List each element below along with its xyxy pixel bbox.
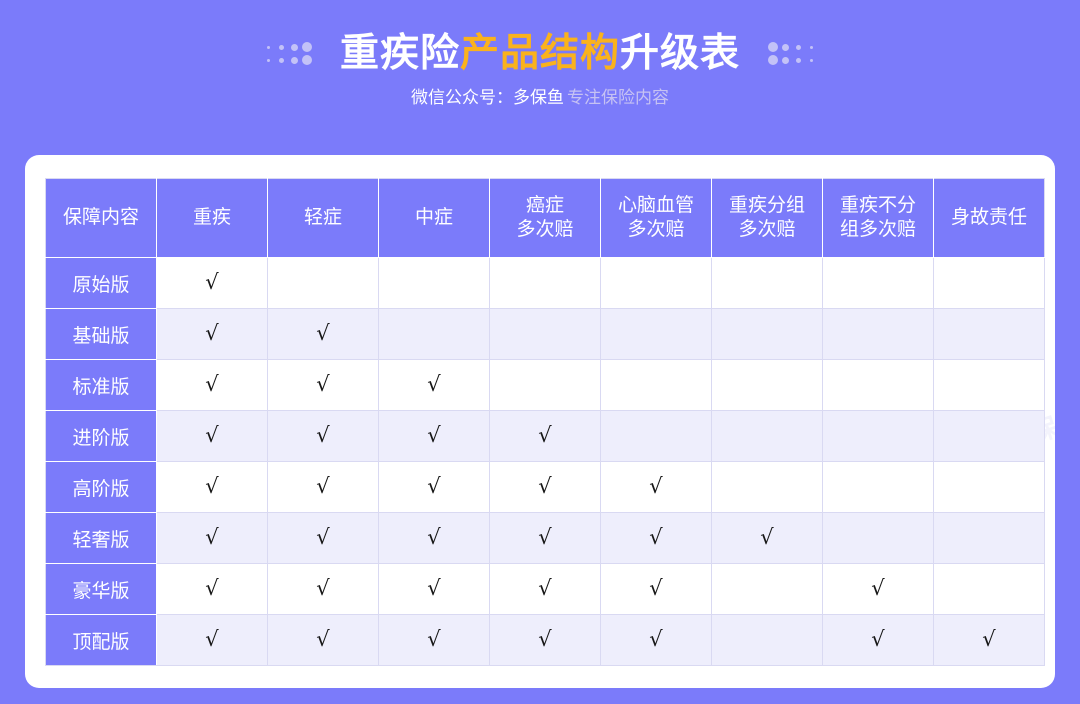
cell-empty [712, 411, 823, 462]
dot-grid-descending-icon [766, 41, 818, 67]
cell-check: √ [379, 615, 490, 666]
check-icon: √ [205, 476, 218, 497]
table-header: 保障内容 重疾轻症中症癌症多次赔心脑血管多次赔重疾分组多次赔重疾不分组多次赔身故… [46, 179, 1045, 258]
title-row: 重疾险产品结构升级表 [0, 34, 1080, 73]
check-icon: √ [538, 527, 551, 548]
cell-empty [823, 462, 934, 513]
check-icon: √ [649, 476, 662, 497]
column-header-7: 重疾不分组多次赔 [823, 179, 934, 258]
coverage-matrix-table: 保障内容 重疾轻症中症癌症多次赔心脑血管多次赔重疾分组多次赔重疾不分组多次赔身故… [45, 178, 1045, 666]
cell-check: √ [379, 411, 490, 462]
cell-empty [823, 411, 934, 462]
table-row: 基础版√√ [46, 309, 1045, 360]
column-header-6: 重疾分组多次赔 [712, 179, 823, 258]
check-icon: √ [427, 629, 440, 650]
check-icon: √ [316, 476, 329, 497]
table-row: 顶配版√√√√√√√ [46, 615, 1045, 666]
check-icon: √ [316, 425, 329, 446]
check-icon: √ [205, 374, 218, 395]
cell-empty [490, 360, 601, 411]
cell-check: √ [601, 564, 712, 615]
column-header-3: 中症 [379, 179, 490, 258]
table-row: 标准版√√√ [46, 360, 1045, 411]
cell-empty [934, 513, 1045, 564]
cell-check: √ [268, 513, 379, 564]
check-icon: √ [316, 527, 329, 548]
cell-check: √ [601, 615, 712, 666]
check-icon: √ [427, 578, 440, 599]
cell-empty [712, 258, 823, 309]
cell-check: √ [601, 462, 712, 513]
check-icon: √ [427, 527, 440, 548]
check-icon: √ [205, 578, 218, 599]
cell-check: √ [268, 411, 379, 462]
column-header-4: 癌症多次赔 [490, 179, 601, 258]
check-icon: √ [871, 629, 884, 650]
cell-check: √ [379, 360, 490, 411]
cell-check: √ [157, 411, 268, 462]
cell-check: √ [601, 513, 712, 564]
cell-empty [601, 258, 712, 309]
row-label-豪华版: 豪华版 [46, 564, 157, 615]
cell-check: √ [490, 513, 601, 564]
cell-check: √ [823, 564, 934, 615]
column-header-1: 重疾 [157, 179, 268, 258]
cell-check: √ [268, 615, 379, 666]
cell-check: √ [379, 513, 490, 564]
cell-empty [712, 564, 823, 615]
title-part-2: 升级表 [620, 32, 740, 75]
check-icon: √ [316, 578, 329, 599]
check-icon: √ [205, 629, 218, 650]
dot-grid-ascending-icon [262, 41, 314, 67]
cell-empty [712, 462, 823, 513]
cell-empty [934, 360, 1045, 411]
cell-empty [379, 309, 490, 360]
cell-check: √ [157, 258, 268, 309]
subtitle-tagline: 专注保险内容 [567, 88, 669, 107]
row-label-原始版: 原始版 [46, 258, 157, 309]
check-icon: √ [649, 527, 662, 548]
page-header: 重疾险产品结构升级表 微信公众号：多保鱼专注保险内容 [0, 0, 1080, 106]
check-icon: √ [316, 629, 329, 650]
cell-check: √ [823, 615, 934, 666]
cell-empty [934, 258, 1045, 309]
cell-check: √ [268, 564, 379, 615]
header-row: 保障内容 重疾轻症中症癌症多次赔心脑血管多次赔重疾分组多次赔重疾不分组多次赔身故… [46, 179, 1045, 258]
table-body: 原始版√基础版√√标准版√√√进阶版√√√√高阶版√√√√√轻奢版√√√√√√豪… [46, 258, 1045, 666]
cell-check: √ [490, 411, 601, 462]
column-header-corner: 保障内容 [46, 179, 157, 258]
row-label-高阶版: 高阶版 [46, 462, 157, 513]
page-subtitle: 微信公众号：多保鱼专注保险内容 [0, 89, 1080, 106]
table-card: 多保鱼多保鱼多保鱼多保鱼多保鱼多保鱼多保鱼多保鱼多保鱼多保鱼 保障内容 重疾轻症… [25, 155, 1055, 688]
cell-empty [934, 564, 1045, 615]
cell-check: √ [379, 462, 490, 513]
title-part-1: 重疾险 [340, 32, 460, 75]
cell-empty [934, 309, 1045, 360]
page-title: 重疾险产品结构升级表 [340, 34, 740, 73]
check-icon: √ [538, 578, 551, 599]
check-icon: √ [205, 527, 218, 548]
row-label-轻奢版: 轻奢版 [46, 513, 157, 564]
table-row: 豪华版√√√√√√ [46, 564, 1045, 615]
check-icon: √ [316, 323, 329, 344]
cell-check: √ [157, 564, 268, 615]
cell-empty [712, 360, 823, 411]
cell-check: √ [157, 615, 268, 666]
table-row: 轻奢版√√√√√√ [46, 513, 1045, 564]
cell-empty [823, 258, 934, 309]
cell-check: √ [268, 309, 379, 360]
cell-empty [601, 309, 712, 360]
row-label-标准版: 标准版 [46, 360, 157, 411]
check-icon: √ [427, 476, 440, 497]
subtitle-account: 微信公众号：多保鱼 [411, 88, 564, 107]
table-row: 高阶版√√√√√ [46, 462, 1045, 513]
check-icon: √ [538, 476, 551, 497]
cell-empty [379, 258, 490, 309]
cell-check: √ [268, 462, 379, 513]
cell-check: √ [379, 564, 490, 615]
title-accent: 产品结构 [460, 32, 620, 75]
cell-empty [934, 462, 1045, 513]
cell-empty [601, 360, 712, 411]
table-row: 原始版√ [46, 258, 1045, 309]
column-header-5: 心脑血管多次赔 [601, 179, 712, 258]
cell-check: √ [157, 513, 268, 564]
cell-empty [823, 513, 934, 564]
cell-check: √ [490, 615, 601, 666]
cell-check: √ [157, 462, 268, 513]
table-row: 进阶版√√√√ [46, 411, 1045, 462]
cell-check: √ [934, 615, 1045, 666]
check-icon: √ [427, 425, 440, 446]
row-label-进阶版: 进阶版 [46, 411, 157, 462]
cell-empty [823, 360, 934, 411]
check-icon: √ [982, 629, 995, 650]
check-icon: √ [316, 374, 329, 395]
cell-check: √ [490, 462, 601, 513]
cell-empty [490, 258, 601, 309]
check-icon: √ [538, 629, 551, 650]
check-icon: √ [205, 323, 218, 344]
check-icon: √ [760, 527, 773, 548]
cell-check: √ [268, 360, 379, 411]
cell-check: √ [490, 564, 601, 615]
cell-empty [823, 309, 934, 360]
check-icon: √ [427, 374, 440, 395]
check-icon: √ [538, 425, 551, 446]
cell-empty [601, 411, 712, 462]
check-icon: √ [871, 578, 884, 599]
check-icon: √ [649, 578, 662, 599]
check-icon: √ [205, 425, 218, 446]
cell-check: √ [712, 513, 823, 564]
column-header-8: 身故责任 [934, 179, 1045, 258]
cell-empty [490, 309, 601, 360]
column-header-2: 轻症 [268, 179, 379, 258]
cell-check: √ [157, 309, 268, 360]
check-icon: √ [649, 629, 662, 650]
row-label-顶配版: 顶配版 [46, 615, 157, 666]
cell-check: √ [157, 360, 268, 411]
check-icon: √ [205, 272, 218, 293]
cell-empty [268, 258, 379, 309]
row-label-基础版: 基础版 [46, 309, 157, 360]
cell-empty [934, 411, 1045, 462]
cell-empty [712, 615, 823, 666]
cell-empty [712, 309, 823, 360]
